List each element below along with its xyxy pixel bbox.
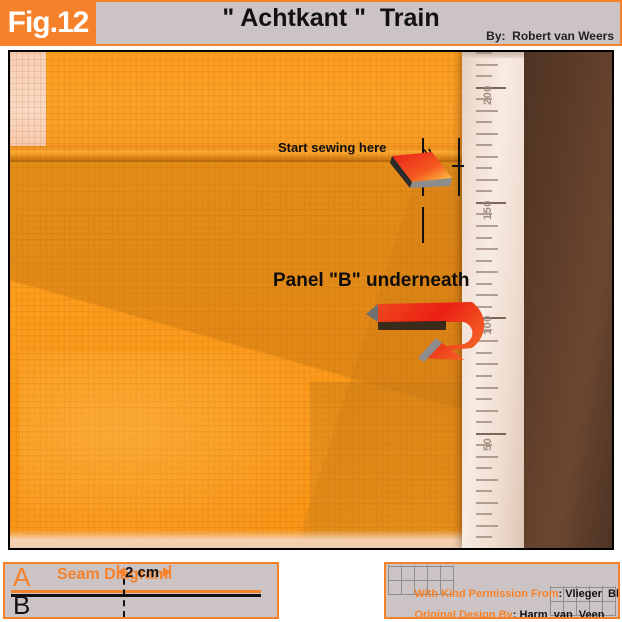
seam-dimension-arrow-left-icon: [117, 567, 125, 577]
ruler-tick: [476, 387, 498, 389]
ruler-tick: [476, 536, 492, 538]
ruler-tick: [476, 502, 498, 504]
ruler-tick: [476, 398, 492, 400]
ruler-tick: [476, 467, 492, 469]
dimension-line-right: [458, 138, 460, 196]
ruler-tick: [476, 110, 498, 112]
ruler-tick: [476, 283, 492, 285]
title-bar: " Achtkant " Train By: Robert van Weers: [96, 2, 622, 44]
credit-design-value: Harm van Veen: [520, 609, 605, 619]
credit-design-row: Original Design By: Harm van Veen: [396, 597, 605, 619]
ruler-number-label: 50: [482, 437, 494, 450]
ruler-tick: [476, 421, 492, 423]
ruler-tick: [476, 121, 492, 123]
ruler-tick: [476, 167, 492, 169]
ruler-tick: [476, 271, 498, 273]
seam-line-panel-b: [11, 594, 261, 597]
photograph: 50100150200 Start sewing here Panel "B" …: [10, 52, 612, 548]
credit-design-colon: :: [513, 609, 517, 619]
header-bar: Fig.12 " Achtkant " Train By: Robert van…: [0, 0, 622, 46]
ruler-tick: [476, 248, 498, 250]
ruler-tick: [476, 64, 498, 66]
fabric-highlight: [20, 352, 350, 548]
ruler-tick: [476, 225, 498, 227]
ruler-tick: [476, 52, 492, 54]
ruler-tick: [476, 179, 498, 181]
dimension-line-lower: [422, 207, 424, 243]
ruler-tick: [476, 190, 492, 192]
credits-panel: With Kind Permission From: Vlieger Blad …: [384, 562, 620, 619]
seam-dimension-label: 2 cm: [125, 564, 159, 581]
ruler-tick: [476, 456, 498, 458]
ruler-number-label: 200: [482, 85, 494, 105]
seam-panel-a-label: A: [13, 562, 30, 593]
ruler-tick: [476, 525, 498, 527]
ruler-tick: [476, 479, 498, 481]
ruler-number-label: 150: [482, 200, 494, 220]
figure-page: Fig.12 " Achtkant " Train By: Robert van…: [0, 0, 622, 622]
fabric-bottom-edge: [10, 530, 462, 548]
annotation-start-sewing: Start sewing here: [278, 140, 386, 155]
seam-diagram-panel: A B Seam Diagram 2 cm: [3, 562, 279, 619]
ruler-tick: [476, 513, 492, 515]
photo-frame: 50100150200 Start sewing here Panel "B" …: [8, 50, 614, 550]
ruler-tick: [476, 75, 492, 77]
author-byline: By: Robert van Weers: [486, 29, 614, 43]
ruler-tick: [476, 156, 498, 158]
start-sewing-arrow-icon: [388, 148, 458, 192]
ruler-tick: [476, 237, 492, 239]
figure-number-label: Fig.12: [8, 8, 89, 38]
panel-b-curved-arrow-icon: [360, 288, 550, 368]
ruler-tick: [476, 433, 506, 435]
seam-dimension-bar-right: [169, 565, 171, 579]
ruler-tick: [476, 260, 492, 262]
figure-number-badge: Fig.12: [0, 0, 96, 46]
ruler-tick: [476, 144, 492, 146]
ruler-tick: [476, 410, 498, 412]
ruler-tick: [476, 490, 492, 492]
credit-design-label: Original Design By: [414, 609, 512, 619]
ruler-tick: [476, 133, 498, 135]
ruler-tick: [476, 375, 492, 377]
seam-line-panel-a: [11, 590, 261, 593]
